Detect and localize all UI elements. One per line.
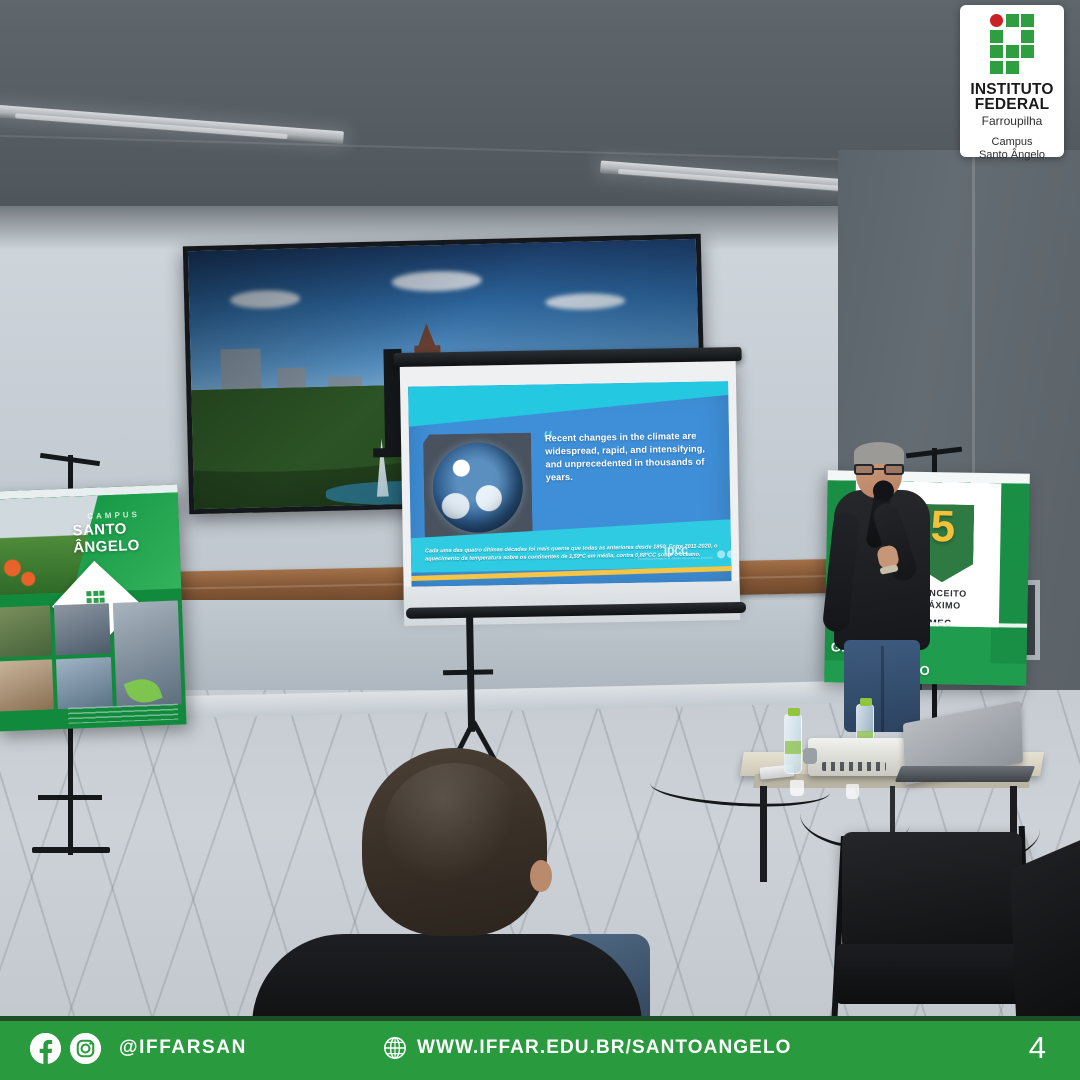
projected-slide: “ Recent changes in the climate are wide… bbox=[408, 381, 731, 587]
chair-backrest bbox=[842, 832, 1022, 952]
ipcc-wordmark: ipcc bbox=[638, 542, 713, 558]
presenter bbox=[826, 442, 966, 732]
presenter-hair bbox=[854, 442, 904, 464]
laptop bbox=[900, 712, 1030, 786]
chair-seat bbox=[836, 944, 1032, 1004]
website-url: WWW.IFFAR.EDU.BR/SANTOANGELO bbox=[417, 1037, 792, 1059]
audience-head bbox=[362, 748, 547, 936]
social-links[interactable]: @IFFARSAN bbox=[30, 1033, 247, 1064]
ipcc-logo: ipcc INTERGOVERNMENTAL PANEL ON CLIMATE … bbox=[638, 542, 713, 561]
presenter-glasses bbox=[854, 464, 904, 475]
logo-unit-name: Farroupilha bbox=[982, 114, 1043, 128]
logo-campus-label: Campus bbox=[992, 136, 1033, 149]
projection-screen: “ Recent changes in the climate are wide… bbox=[399, 347, 740, 643]
slide-quote-text: Recent changes in the climate are widesp… bbox=[545, 429, 718, 484]
audience-member bbox=[252, 748, 642, 1023]
institution-logo-card: INSTITUTO FEDERAL Farroupilha Campus San… bbox=[960, 5, 1064, 157]
slide-earth-image bbox=[423, 433, 533, 543]
banner-contact-text bbox=[68, 704, 179, 724]
facebook-icon[interactable] bbox=[30, 1033, 61, 1064]
logo-institute-line1: INSTITUTO bbox=[970, 82, 1053, 98]
slide-top-wedge bbox=[408, 381, 729, 427]
presentation-photo-slide: “ Recent changes in the climate are wide… bbox=[0, 0, 1080, 1080]
screen-tripod-stand bbox=[464, 614, 477, 764]
page-number: 4 bbox=[1029, 1030, 1046, 1066]
laptop-keyboard bbox=[895, 766, 1035, 782]
globe-icon bbox=[383, 1036, 407, 1060]
audience-ear bbox=[530, 860, 552, 892]
banner-campus-name: SANTO ÂNGELO bbox=[72, 518, 180, 556]
website-link[interactable]: WWW.IFFAR.EDU.BR/SANTOANGELO bbox=[383, 1036, 792, 1060]
social-handle: @IFFARSAN bbox=[119, 1037, 247, 1059]
projector bbox=[808, 738, 906, 776]
logo-institute-line2: FEDERAL bbox=[975, 97, 1050, 113]
plastic-cup-left bbox=[790, 780, 804, 796]
audience-shoulders bbox=[252, 934, 642, 1026]
instagram-icon[interactable] bbox=[70, 1033, 101, 1064]
footer-bar: @IFFARSAN WWW.IFFAR.EDU.BR/SANTOANGELO 4 bbox=[0, 1016, 1080, 1080]
screen-canvas: “ Recent changes in the climate are wide… bbox=[400, 361, 740, 612]
water-bottle-left bbox=[784, 714, 802, 774]
if-logo-icon bbox=[990, 14, 1034, 74]
projector-lens bbox=[803, 748, 817, 764]
banner-campus-santo-angelo: CAMPUS SANTO ÂNGELO INSTITUTO FEDERAL bbox=[0, 484, 187, 731]
logo-campus-name: Santo Ângelo bbox=[979, 149, 1045, 162]
